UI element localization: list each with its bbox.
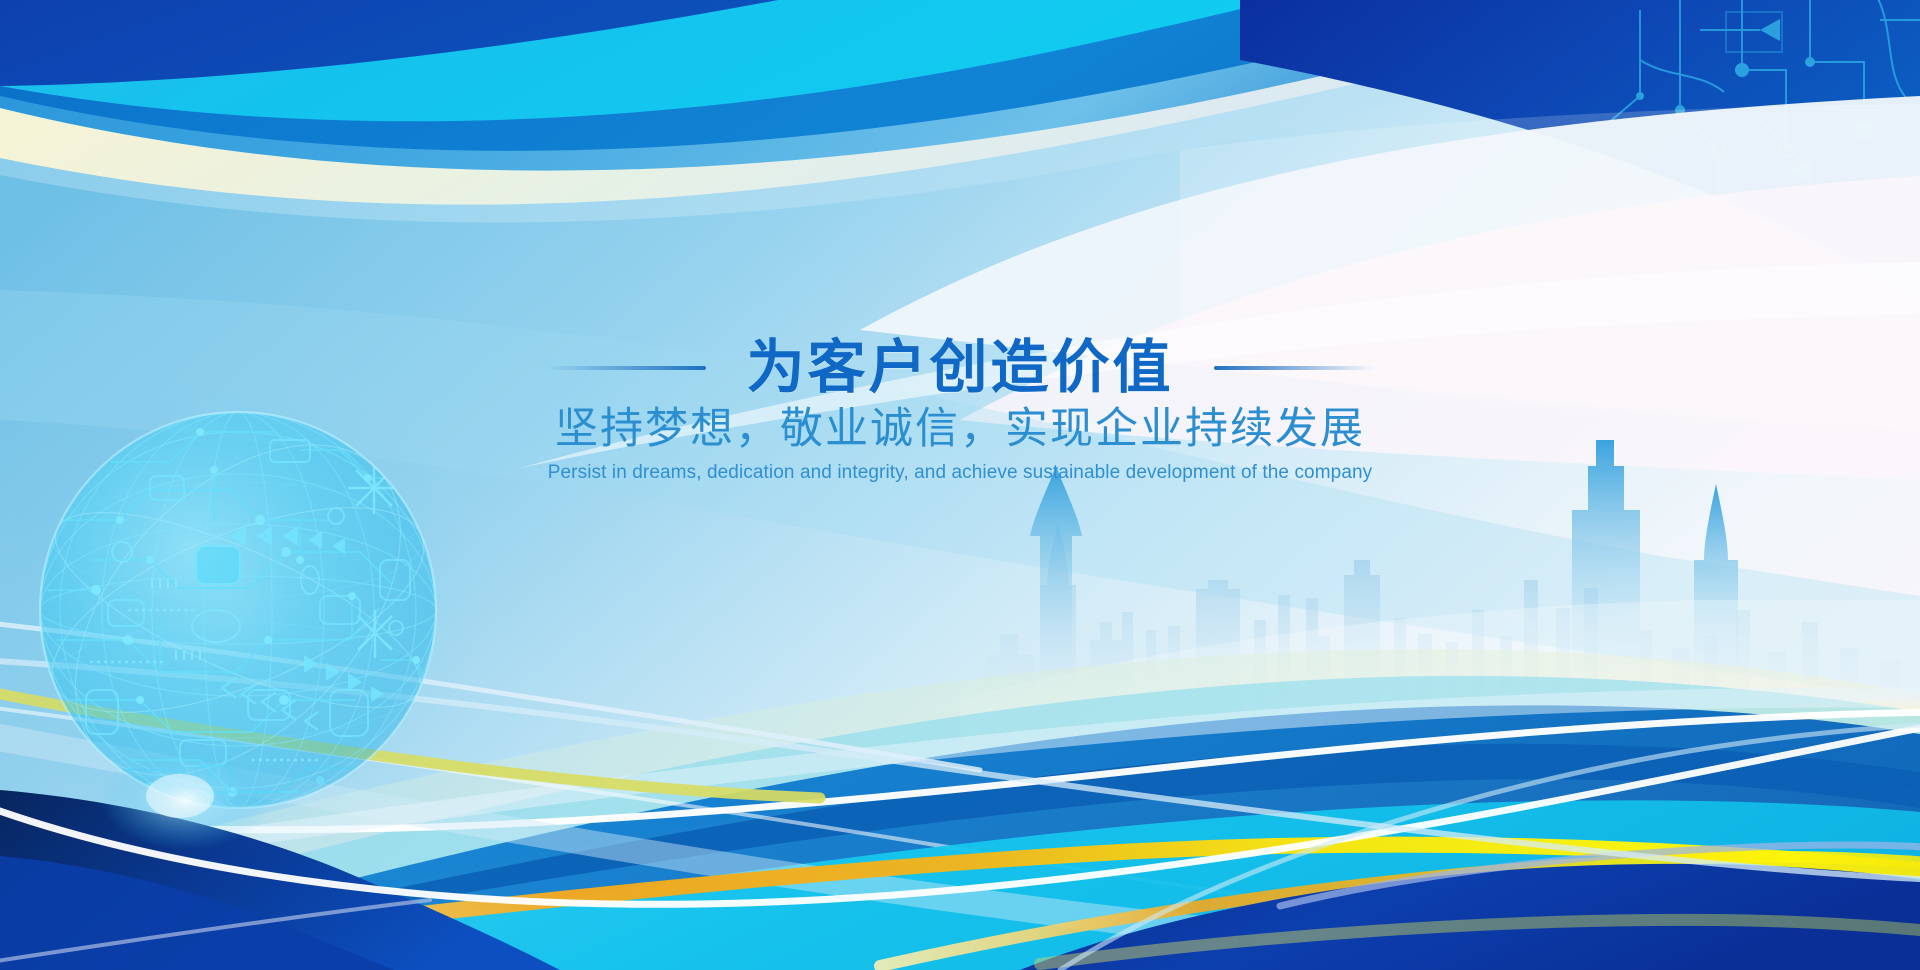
globe-base-glow-core <box>146 774 214 818</box>
subtitle-chinese: 坚持梦想，敬业诚信，实现企业持续发展 <box>360 405 1560 454</box>
title-rule-left <box>546 366 706 370</box>
corporate-banner: 为客户创造价值 坚持梦想，敬业诚信，实现企业持续发展 Persist in dr… <box>0 0 1920 970</box>
title-rule-right <box>1214 366 1374 370</box>
page-title: 为客户创造价值 <box>746 339 1173 397</box>
subtitle-english: Persist in dreams, dedication and integr… <box>360 462 1560 485</box>
background-artwork <box>0 0 1920 970</box>
